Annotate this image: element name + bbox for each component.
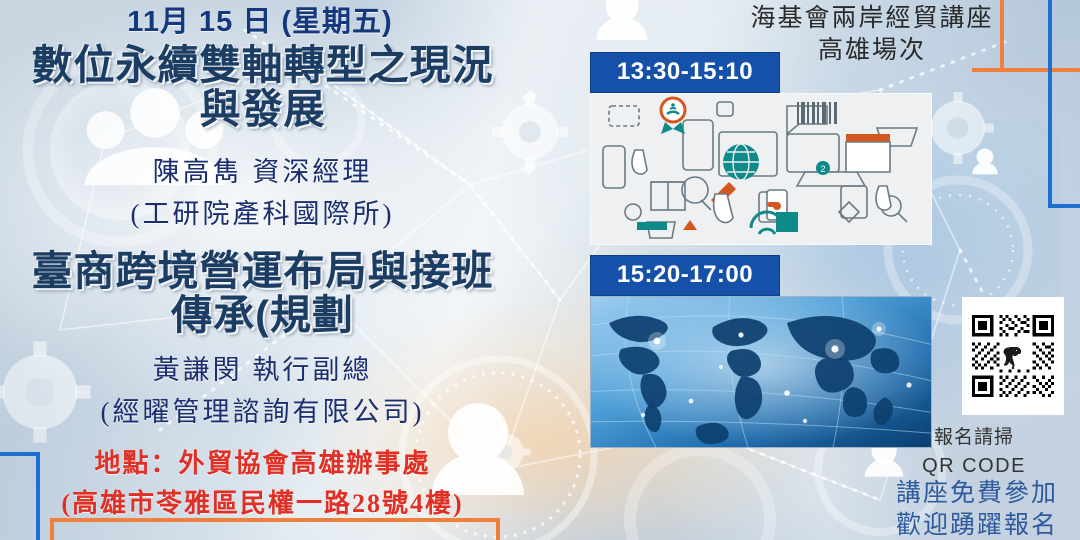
venue-line1: 地點：外貿協會高雄辦事處: [0, 443, 525, 480]
free-admission-line2: 歡迎踴躍報名: [882, 510, 1072, 540]
session-2-block: 15:20-17:00: [590, 255, 932, 448]
session-2-affiliation: (經曜管理諮詢有限公司): [0, 390, 525, 429]
ecommerce-icons-collage-image: 2: [591, 94, 931, 244]
session-2-time-badge: 15:20-17:00: [590, 255, 780, 296]
venue-line2: (高雄市苓雅區民權一路28號4樓): [0, 483, 525, 520]
qr-instruction: 報名請掃 QR CODE: [884, 424, 1064, 481]
qr-code-icon: [969, 312, 1057, 400]
free-admission-note: 講座免費參加 歡迎踴躍報名: [882, 478, 1072, 540]
seminar-poster: 11月 15 日 (星期五) 數位永續雙軸轉型之現況 與發展 陳高雋 資深經理 …: [0, 0, 1080, 540]
session-2-title-line2: 傳承(規劃: [0, 294, 525, 338]
session-1-speaker: 陳高雋 資深經理: [0, 150, 525, 189]
qr-code[interactable]: [962, 297, 1064, 415]
session-2-thumbnail: [590, 296, 932, 448]
session-1-time-badge: 13:30-15:10: [590, 52, 780, 93]
organizer-title-line1: 海基會兩岸經貿講座: [722, 2, 1022, 34]
qr-instruction-line2: QR CODE: [884, 452, 1064, 481]
program-text-column: 11月 15 日 (星期五) 數位永續雙軸轉型之現況 與發展 陳高雋 資深經理 …: [0, 0, 540, 540]
qr-instruction-line1: 報名請掃: [884, 424, 1064, 452]
session-1-thumbnail: 2: [590, 93, 932, 245]
global-network-world-map-image: [591, 297, 931, 447]
session-1-title-line1: 數位永續雙軸轉型之現況: [0, 44, 525, 88]
free-admission-line1: 講座免費參加: [882, 478, 1072, 510]
session-1-affiliation: (工研院產科國際所): [0, 192, 525, 231]
corner-frame-blue-right-bottom: [1048, 204, 1080, 208]
session-1-title-line2: 與發展: [0, 88, 525, 132]
session-1-block: 13:30-15:10: [590, 52, 932, 245]
session-2-title: 臺商跨境營運布局與接班 傳承(規劃: [0, 250, 525, 338]
corner-frame-blue-right: [1048, 0, 1052, 208]
session-1-title: 數位永續雙軸轉型之現況 與發展: [0, 44, 525, 132]
event-date: 11月 15 日 (星期五): [0, 0, 520, 40]
svg-text:2: 2: [820, 164, 825, 174]
session-2-title-line1: 臺商跨境營運布局與接班: [0, 250, 525, 294]
corner-frame-orange-top: [972, 68, 1080, 72]
session-2-speaker: 黃謙閔 執行副總: [0, 348, 525, 387]
